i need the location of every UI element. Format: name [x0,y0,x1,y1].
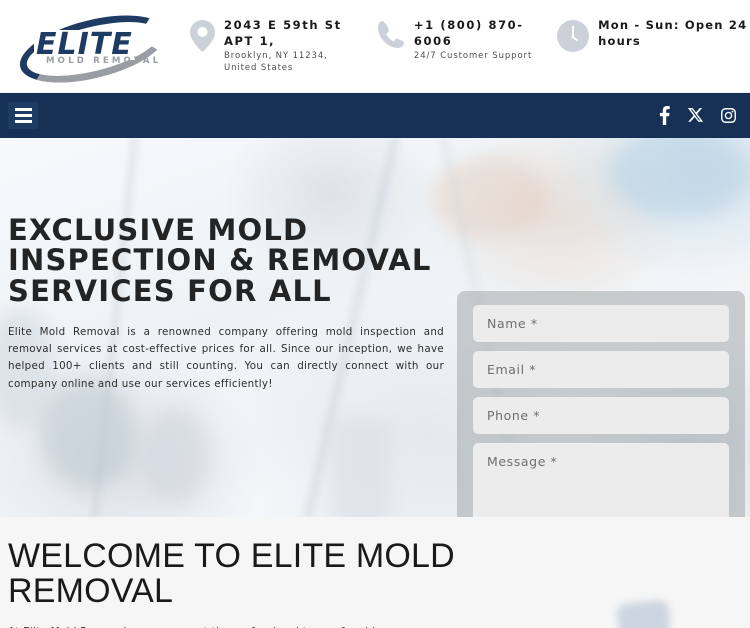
hamburger-bar [15,120,32,123]
hero-bg-blob [330,418,390,517]
hero-bg-blob [40,378,136,488]
welcome-section: WELCOME TO ELITE MOLD REMOVAL At Elite M… [0,517,750,628]
phone-subtext: 24/7 Customer Support [414,51,539,62]
address-text: 2043 E 59th St APT 1, Brooklyn, NY 11234… [224,16,359,74]
x-twitter-icon[interactable] [688,108,703,123]
clock-icon [557,20,589,52]
phone-input[interactable] [473,397,729,434]
top-info-bar: ELITE MOLD REMOVAL 2043 E 59th St APT 1,… [0,0,750,93]
hours-line1: Mon - Sun: Open 24 hours [598,18,750,49]
social-links [659,106,736,125]
hero-section: EXCLUSIVE MOLD INSPECTION & REMOVAL SERV… [0,138,750,517]
phone-text: +1 (800) 870-6006 24/7 Customer Support [414,16,539,63]
hamburger-menu-icon[interactable] [8,102,38,129]
message-input[interactable] [473,443,729,517]
phone-info: +1 (800) 870-6006 24/7 Customer Support [377,16,539,63]
phone-icon [377,20,405,50]
hamburger-bar [15,114,32,117]
page-root: ELITE MOLD REMOVAL 2043 E 59th St APT 1,… [0,0,750,628]
address-line2: Brooklyn, NY 11234, United States [224,51,359,74]
site-logo[interactable]: ELITE MOLD REMOVAL [12,16,180,78]
hero-title: EXCLUSIVE MOLD INSPECTION & REMOVAL SERV… [8,215,458,306]
address-info: 2043 E 59th St APT 1, Brooklyn, NY 11234… [190,16,359,74]
name-input[interactable] [473,305,729,342]
hours-info: Mon - Sun: Open 24 hours [557,16,750,52]
logo-tagline: MOLD REMOVAL [46,57,161,66]
phone-number[interactable]: +1 (800) 870-6006 [414,18,539,49]
hamburger-bar [15,108,32,111]
welcome-paragraph: At Elite Mold Removal, you can meet the … [8,624,538,628]
instagram-icon[interactable] [721,108,736,123]
location-pin-icon [190,20,215,52]
welcome-title: WELCOME TO ELITE MOLD REMOVAL [8,539,568,610]
quote-form: GET QUOTE NOW [457,291,745,517]
hero-paragraph: Elite Mold Removal is a renowned company… [8,324,444,392]
address-line1: 2043 E 59th St APT 1, [224,18,356,49]
welcome-bg-decoration [616,599,672,628]
hero-bg-blob [610,138,750,218]
hours-text: Mon - Sun: Open 24 hours [598,16,750,49]
facebook-icon[interactable] [659,106,670,125]
hero-bg-blob [140,408,210,503]
email-input[interactable] [473,351,729,388]
main-navbar [0,93,750,138]
